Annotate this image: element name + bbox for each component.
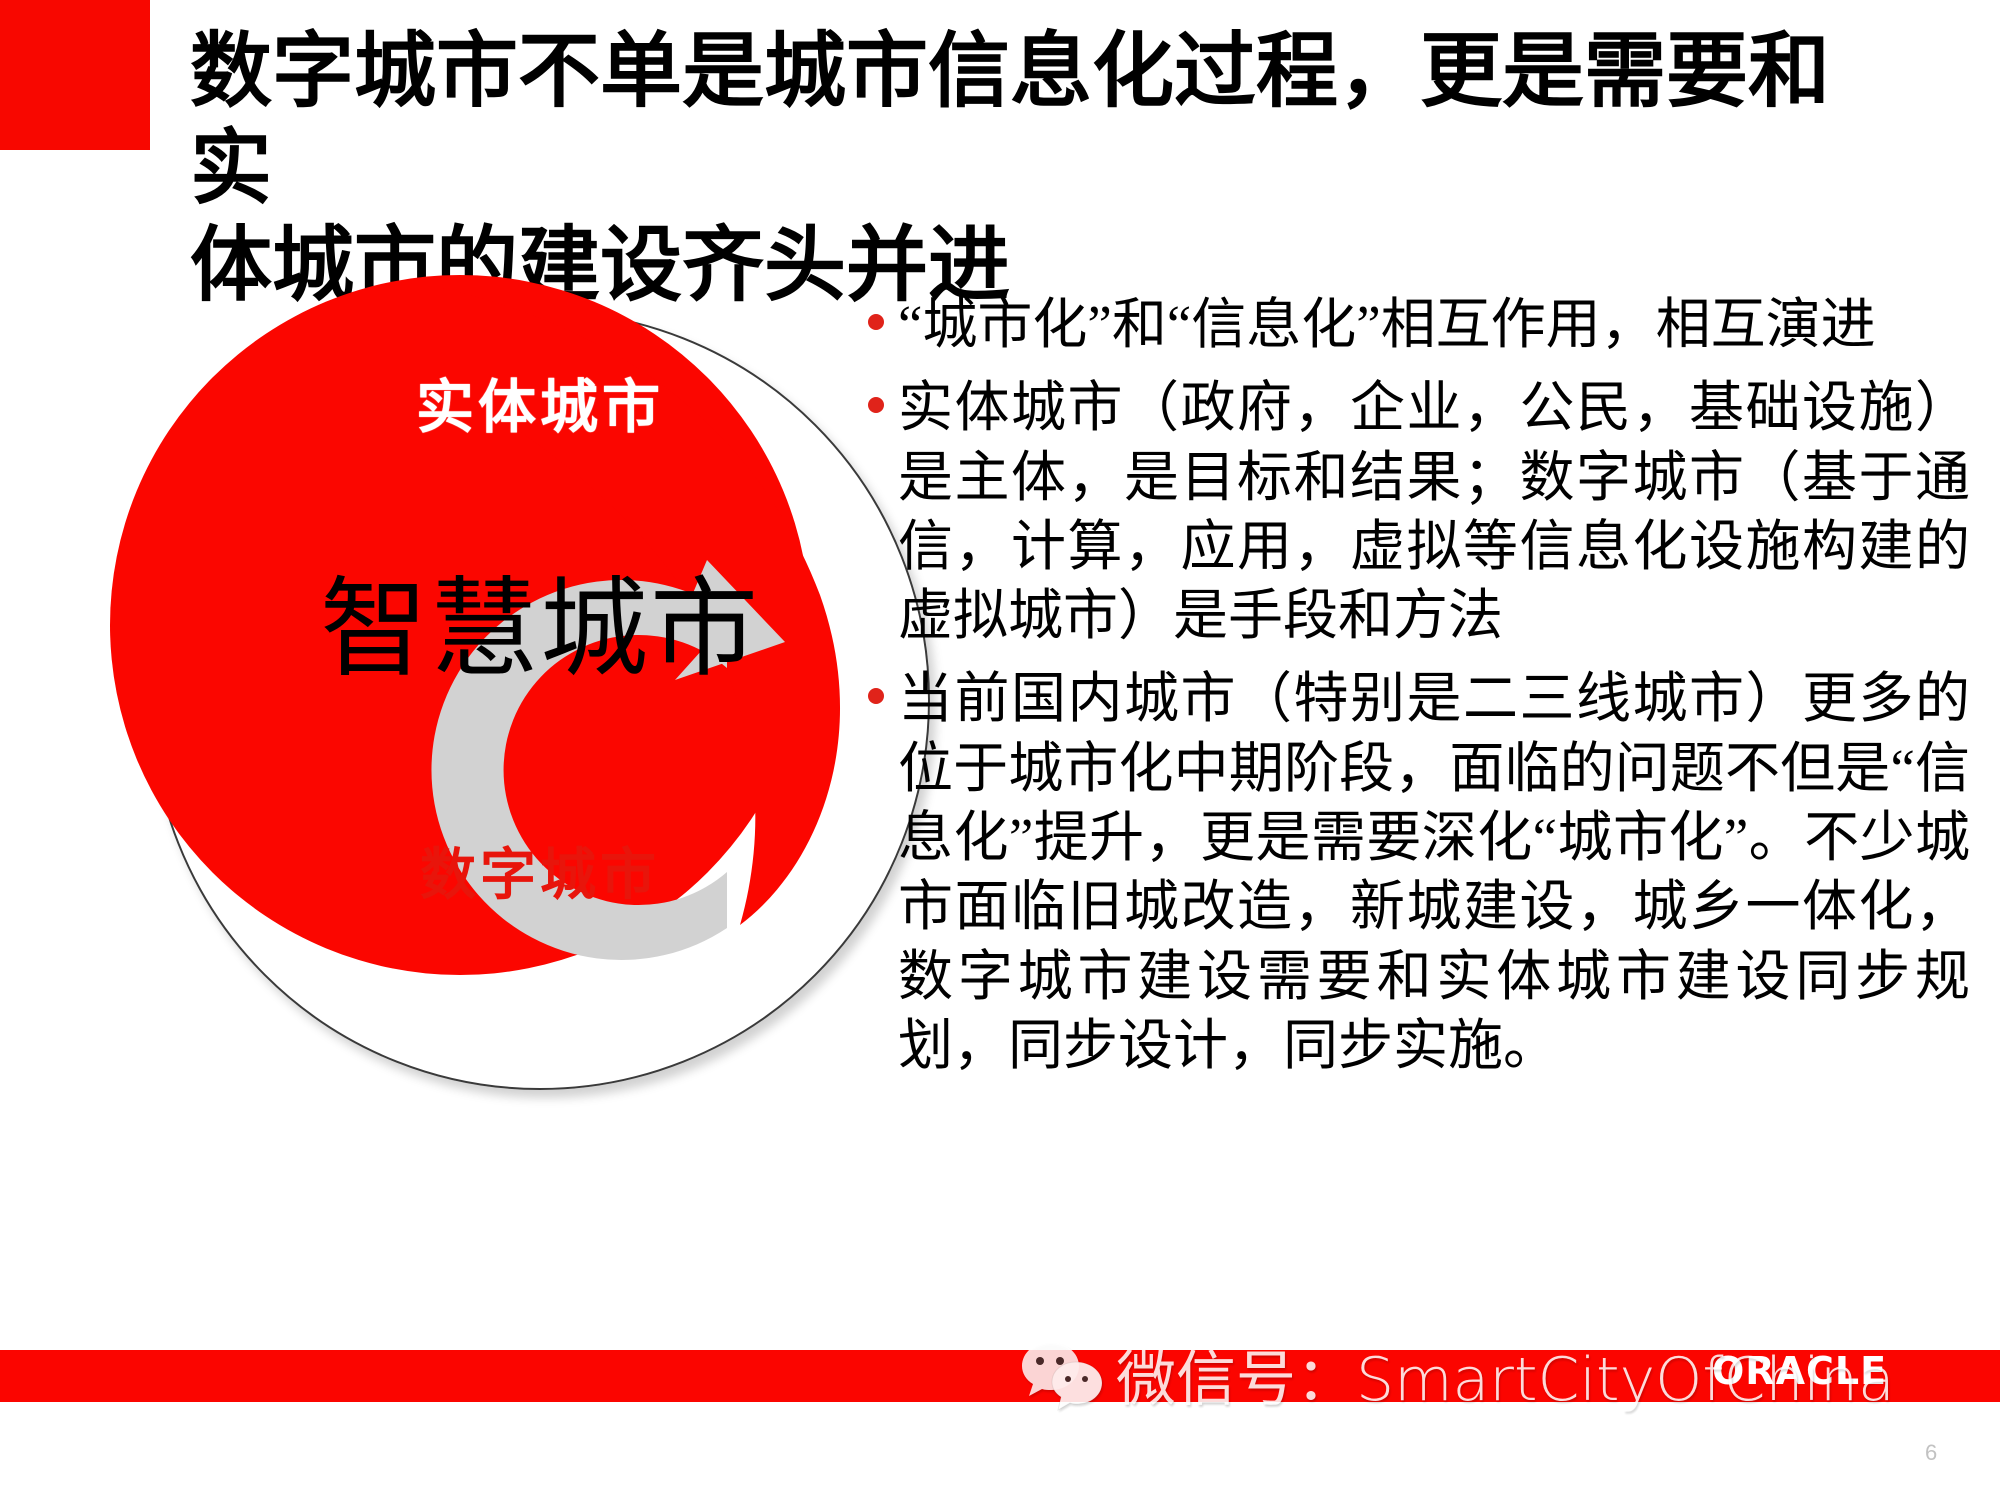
bullet-text: “城市化”和“信息化”相互作用，相互演进 — [898, 290, 1970, 359]
corner-accent-square — [0, 0, 150, 150]
page-number: 6 — [1925, 1440, 1937, 1466]
bullet-dot-icon — [860, 290, 898, 330]
bullet-dot-icon — [860, 373, 898, 413]
list-item: “城市化”和“信息化”相互作用，相互演进 — [860, 290, 1970, 359]
slide-canvas: 数字城市不单是城市信息化过程，更是需要和实 体城市的建设齐头并进 实体城市 智慧… — [0, 0, 2000, 1500]
digital-city-label: 数字城市 — [260, 830, 820, 911]
bullet-text: 当前国内城市（特别是二三线城市）更多的位于城市化中期阶段，面临的问题不但是“信息… — [898, 664, 1970, 1080]
physical-city-label: 实体城市 — [330, 360, 750, 444]
list-item: 实体城市（政府，企业，公民，基础设施）是主体，是目标和结果；数字城市（基于通信，… — [860, 373, 1970, 650]
footer-red-bar — [0, 1350, 2000, 1402]
smart-city-label: 智慧城市 — [230, 575, 850, 683]
bullet-dot-icon — [860, 664, 898, 704]
oracle-logo: ORACLE — [1712, 1352, 1887, 1390]
venn-diagram: 实体城市 智慧城市 数字城市 — [110, 275, 940, 1235]
bullet-list: “城市化”和“信息化”相互作用，相互演进 实体城市（政府，企业，公民，基础设施）… — [860, 290, 1970, 1094]
list-item: 当前国内城市（特别是二三线城市）更多的位于城市化中期阶段，面临的问题不但是“信息… — [860, 664, 1970, 1080]
bullet-text: 实体城市（政府，企业，公民，基础设施）是主体，是目标和结果；数字城市（基于通信，… — [898, 373, 1970, 650]
